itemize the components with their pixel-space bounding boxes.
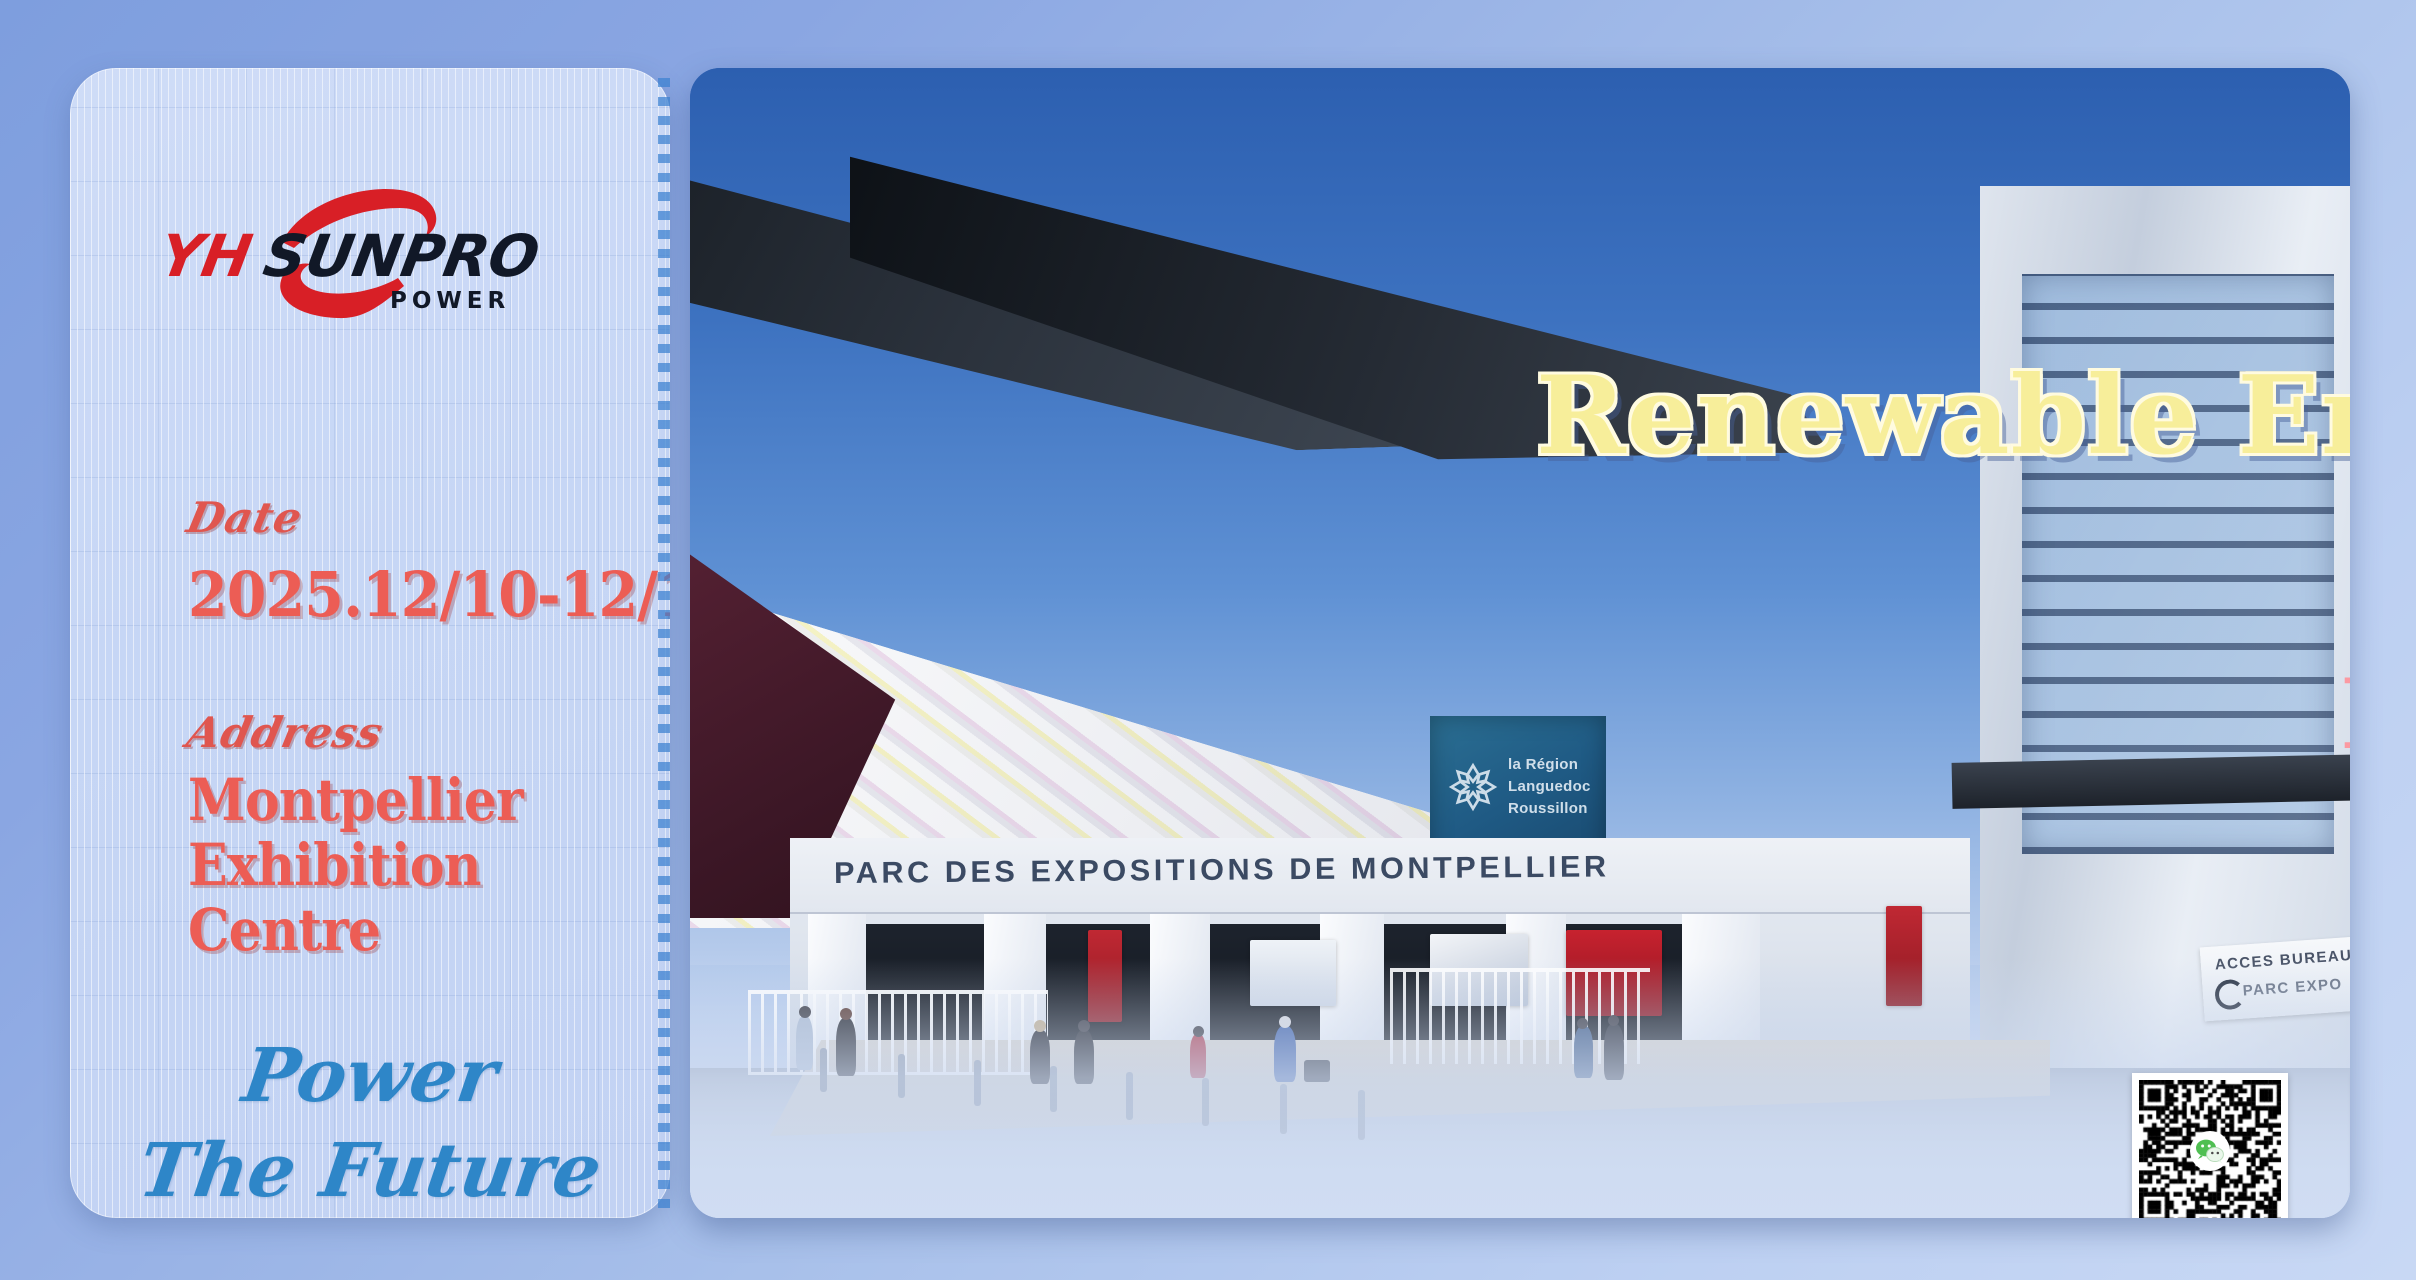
venue-photo: la Région Languedoc Roussillon PARC DES … [690,68,2350,1218]
region-line-1: la Région [1508,754,1604,776]
address-line-1: Montpellier [188,768,622,833]
svg-text:SUNPRO: SUNPRO [259,222,545,289]
date-label: Date [183,493,307,542]
company-logo: YH SUNPRO POWER [70,180,670,320]
tower-canopy [1952,753,2350,809]
info-card: YH SUNPRO POWER Date 2025.12/10-12 [70,68,670,1218]
yhsunpro-logo-mark: YH SUNPRO POWER [160,180,580,320]
region-line-2: Languedoc [1508,776,1604,798]
social-qr-row: WECHAT in LINKDIN X TWITTER f [2130,1073,2350,1218]
photo-bottom-fade [690,958,2350,1218]
tagline-line-2: The Future [70,1128,670,1215]
venue-photo-panel: la Région Languedoc Roussillon PARC DES … [690,68,2350,1218]
region-line-3: Roussillon [1508,798,1604,820]
date-value: 2025.12/10-12/11 [188,558,670,631]
svg-text:POWER: POWER [390,288,510,314]
address-line-2: Exhibition Centre [188,833,622,963]
perforated-divider [658,78,670,1210]
tagline-line-1: Power [70,1033,670,1120]
svg-text:YH: YH [160,222,257,289]
address-value: Montpellier Exhibition Centre [188,768,622,963]
booth-location: HALL A6 - B11 [2340,658,2350,771]
wechat-icon [2190,1131,2230,1171]
region-sign-text: la Région Languedoc Roussillon [1508,754,1604,819]
occitan-cross-icon [1446,760,1500,814]
address-label: Address [183,708,388,757]
social-qr-wechat[interactable]: WECHAT [2130,1073,2290,1218]
promo-banner: YH SUNPRO POWER Date 2025.12/10-12 [0,0,2416,1280]
event-subtitle: Renewable Energy Forum [1536,353,2350,479]
qr-code-wechat[interactable] [2132,1073,2288,1218]
